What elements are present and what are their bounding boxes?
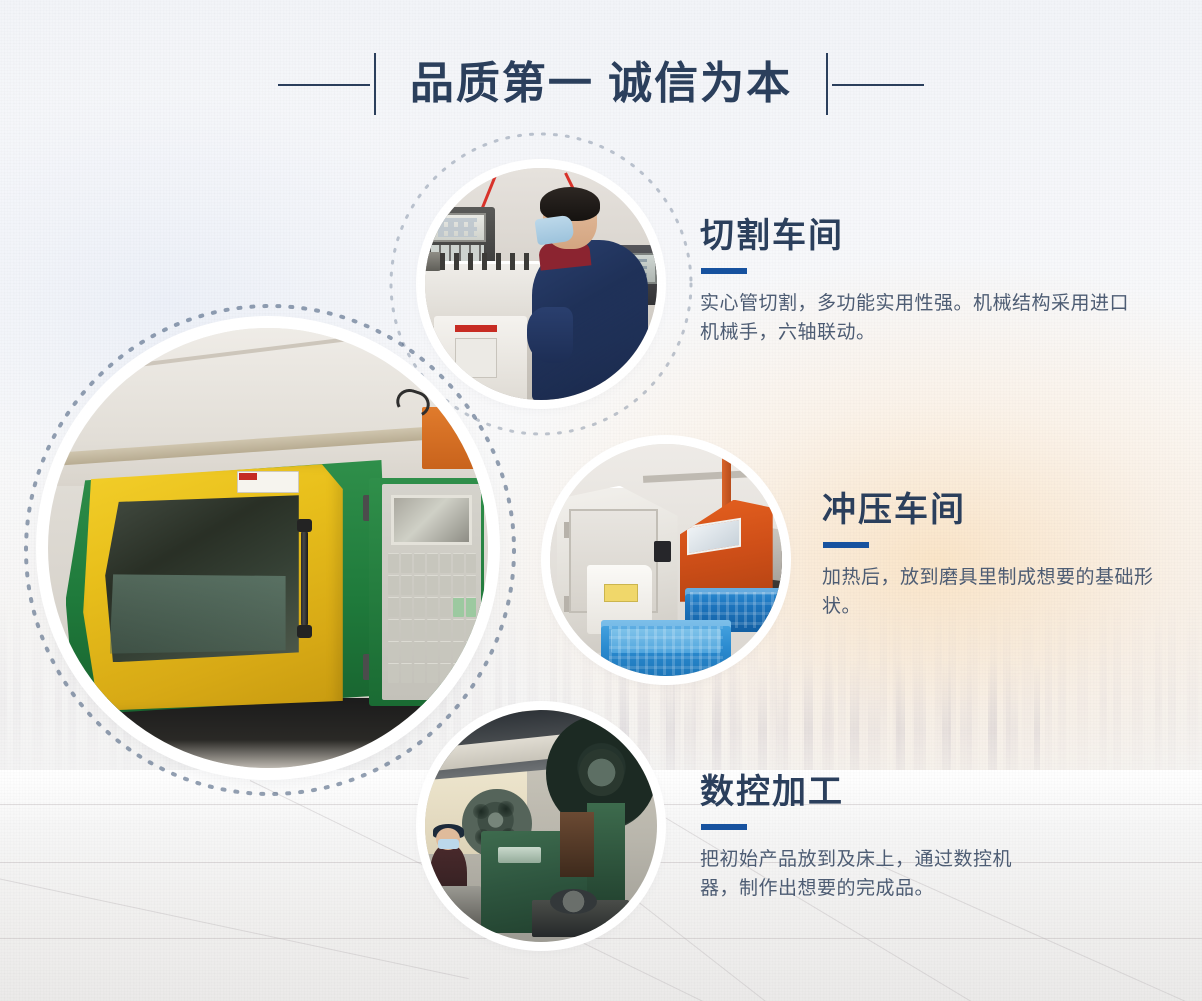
- page-title: 品质第一 诚信为本: [376, 62, 826, 106]
- section-description-stamping: 加热后，放到磨具里制成想要的基础形状。: [822, 563, 1170, 622]
- injection-molding-machine-photo: [48, 328, 488, 768]
- bracket-left-icon: [306, 53, 376, 115]
- worker-operating-cnc-lathe-photo: [425, 168, 657, 400]
- section-text-cutting: 切割车间 实心管切割，多功能实用性强。机械结构采用进口机械手，六轴联动。: [700, 219, 1130, 348]
- section-heading-cutting: 切割车间: [700, 219, 1130, 255]
- bracket-right-icon: [826, 53, 896, 115]
- section-heading-stamping: 冲压车间: [822, 493, 1170, 529]
- accent-bar-cutting: [701, 268, 747, 274]
- page-title-block: 品质第一 诚信为本: [0, 46, 1202, 122]
- section-text-cnc: 数控加工 把初始产品放到及床上，通过数控机器，制作出想要的完成品。: [700, 775, 1050, 904]
- stamping-workshop-machine-photo: [550, 444, 782, 676]
- section-photo-cnc[interactable]: [425, 710, 657, 942]
- accent-bar-cnc: [701, 824, 747, 830]
- punch-press-machine-photo: [425, 710, 657, 942]
- section-text-stamping: 冲压车间 加热后，放到磨具里制成想要的基础形状。: [822, 493, 1170, 622]
- section-photo-stamping[interactable]: [550, 444, 782, 676]
- section-photo-cutting[interactable]: [425, 168, 657, 400]
- featured-photo-circle[interactable]: [48, 328, 488, 768]
- section-heading-cnc: 数控加工: [700, 775, 1050, 811]
- section-description-cnc: 把初始产品放到及床上，通过数控机器，制作出想要的完成品。: [700, 845, 1050, 904]
- accent-bar-stamping: [823, 542, 869, 548]
- page-stage: 品质第一 诚信为本: [0, 0, 1202, 1001]
- section-description-cutting: 实心管切割，多功能实用性强。机械结构采用进口机械手，六轴联动。: [700, 289, 1130, 348]
